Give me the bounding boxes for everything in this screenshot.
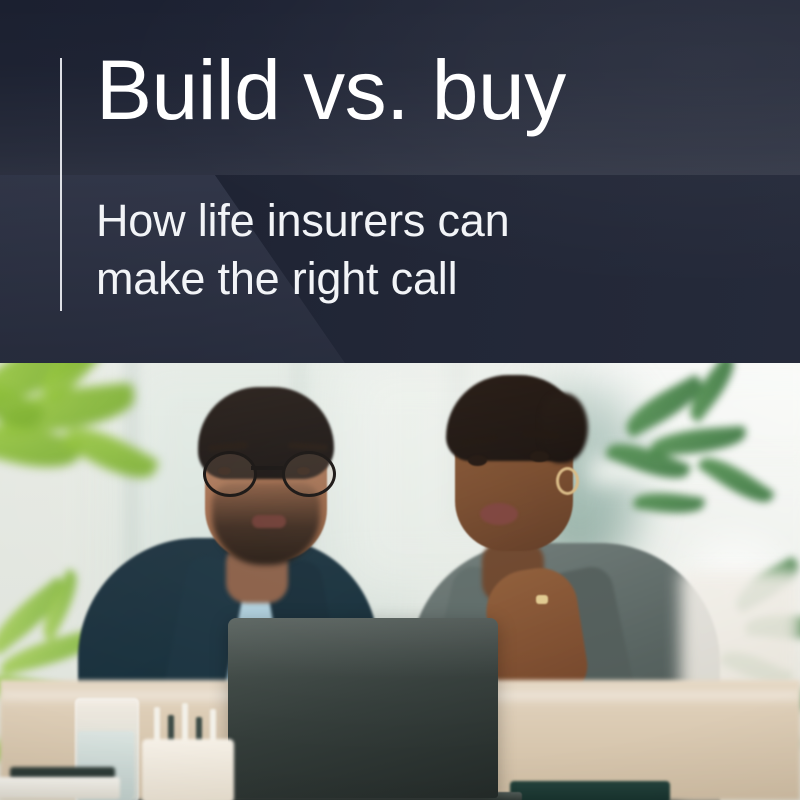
- marketing-banner: Build vs. buy How life insurers can make…: [0, 0, 800, 800]
- tablet-device: [510, 781, 670, 800]
- man-mouth: [252, 515, 286, 528]
- woman-mouth: [480, 503, 518, 525]
- notebook-pages: [0, 777, 120, 799]
- eyeglass-lens-left: [203, 451, 257, 497]
- eyeglass-lens-right: [282, 451, 336, 497]
- page-subtitle: How life insurers can make the right cal…: [96, 192, 509, 308]
- woman-eye-left: [468, 455, 487, 466]
- eyeglass-bridge: [251, 466, 283, 470]
- hero-photograph: [0, 363, 800, 800]
- plant-top-left: [0, 363, 200, 541]
- page-title: Build vs. buy: [96, 42, 566, 138]
- woman-eye-right: [530, 451, 549, 462]
- pen-cup: [142, 739, 234, 800]
- header-panel: Build vs. buy How life insurers can make…: [0, 0, 800, 363]
- woman-finger-ring: [536, 595, 548, 604]
- man-eyeglasses: [200, 451, 336, 491]
- page-subtitle-line-1: How life insurers can: [96, 192, 509, 250]
- laptop-screen-lid: [228, 618, 498, 798]
- woman-hoop-earring: [556, 467, 579, 495]
- page-subtitle-line-2: make the right call: [96, 250, 509, 308]
- vertical-accent-rule: [60, 58, 62, 311]
